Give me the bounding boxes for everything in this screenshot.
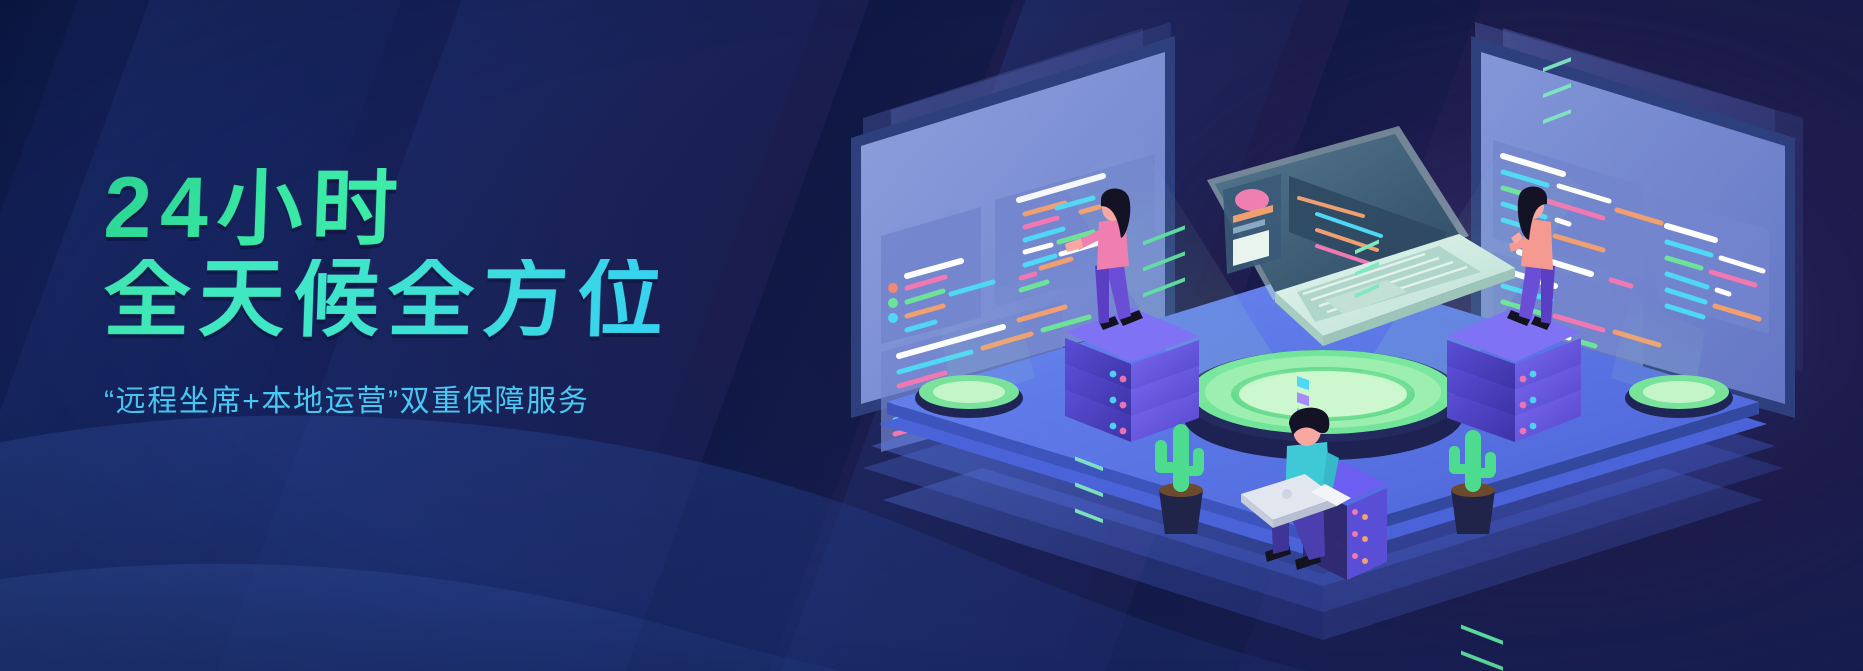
headline-line-1: 24小时 bbox=[103, 168, 866, 249]
subtitle: “远程坐席+本地运营”双重保障服务 bbox=[104, 376, 864, 420]
headline-line-2: 全天候全方位 bbox=[103, 259, 866, 340]
page-title: 24小时 全天候全方位 bbox=[104, 168, 864, 340]
isometric-data-center-illustration bbox=[803, 0, 1863, 671]
hero-banner: 24小时 全天候全方位 “远程坐席+本地运营”双重保障服务 bbox=[0, 0, 1863, 671]
copy-block: 24小时 全天候全方位 “远程坐席+本地运营”双重保障服务 bbox=[104, 168, 864, 420]
